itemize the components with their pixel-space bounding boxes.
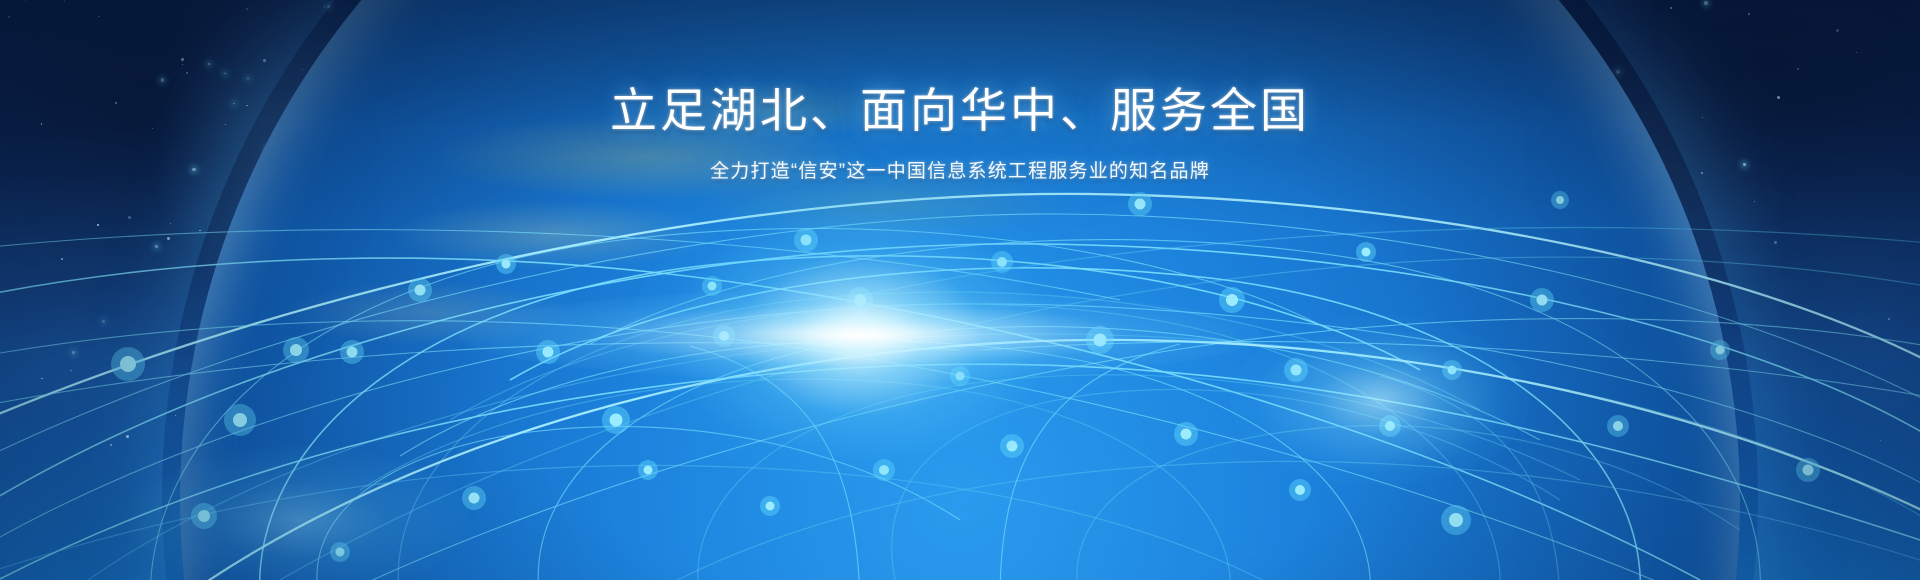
banner-subtitle: 全力打造“信安”这一中国信息系统工程服务业的知名品牌 bbox=[0, 160, 1920, 185]
hero-banner: 立足湖北、面向华中、服务全国 全力打造“信安”这一中国信息系统工程服务业的知名品… bbox=[0, 0, 1920, 580]
right-light-bloom bbox=[1230, 315, 1530, 485]
banner-copy: 立足湖北、面向华中、服务全国 全力打造“信安”这一中国信息系统工程服务业的知名品… bbox=[0, 84, 1920, 185]
page-title: 立足湖北、面向华中、服务全国 bbox=[0, 84, 1920, 138]
